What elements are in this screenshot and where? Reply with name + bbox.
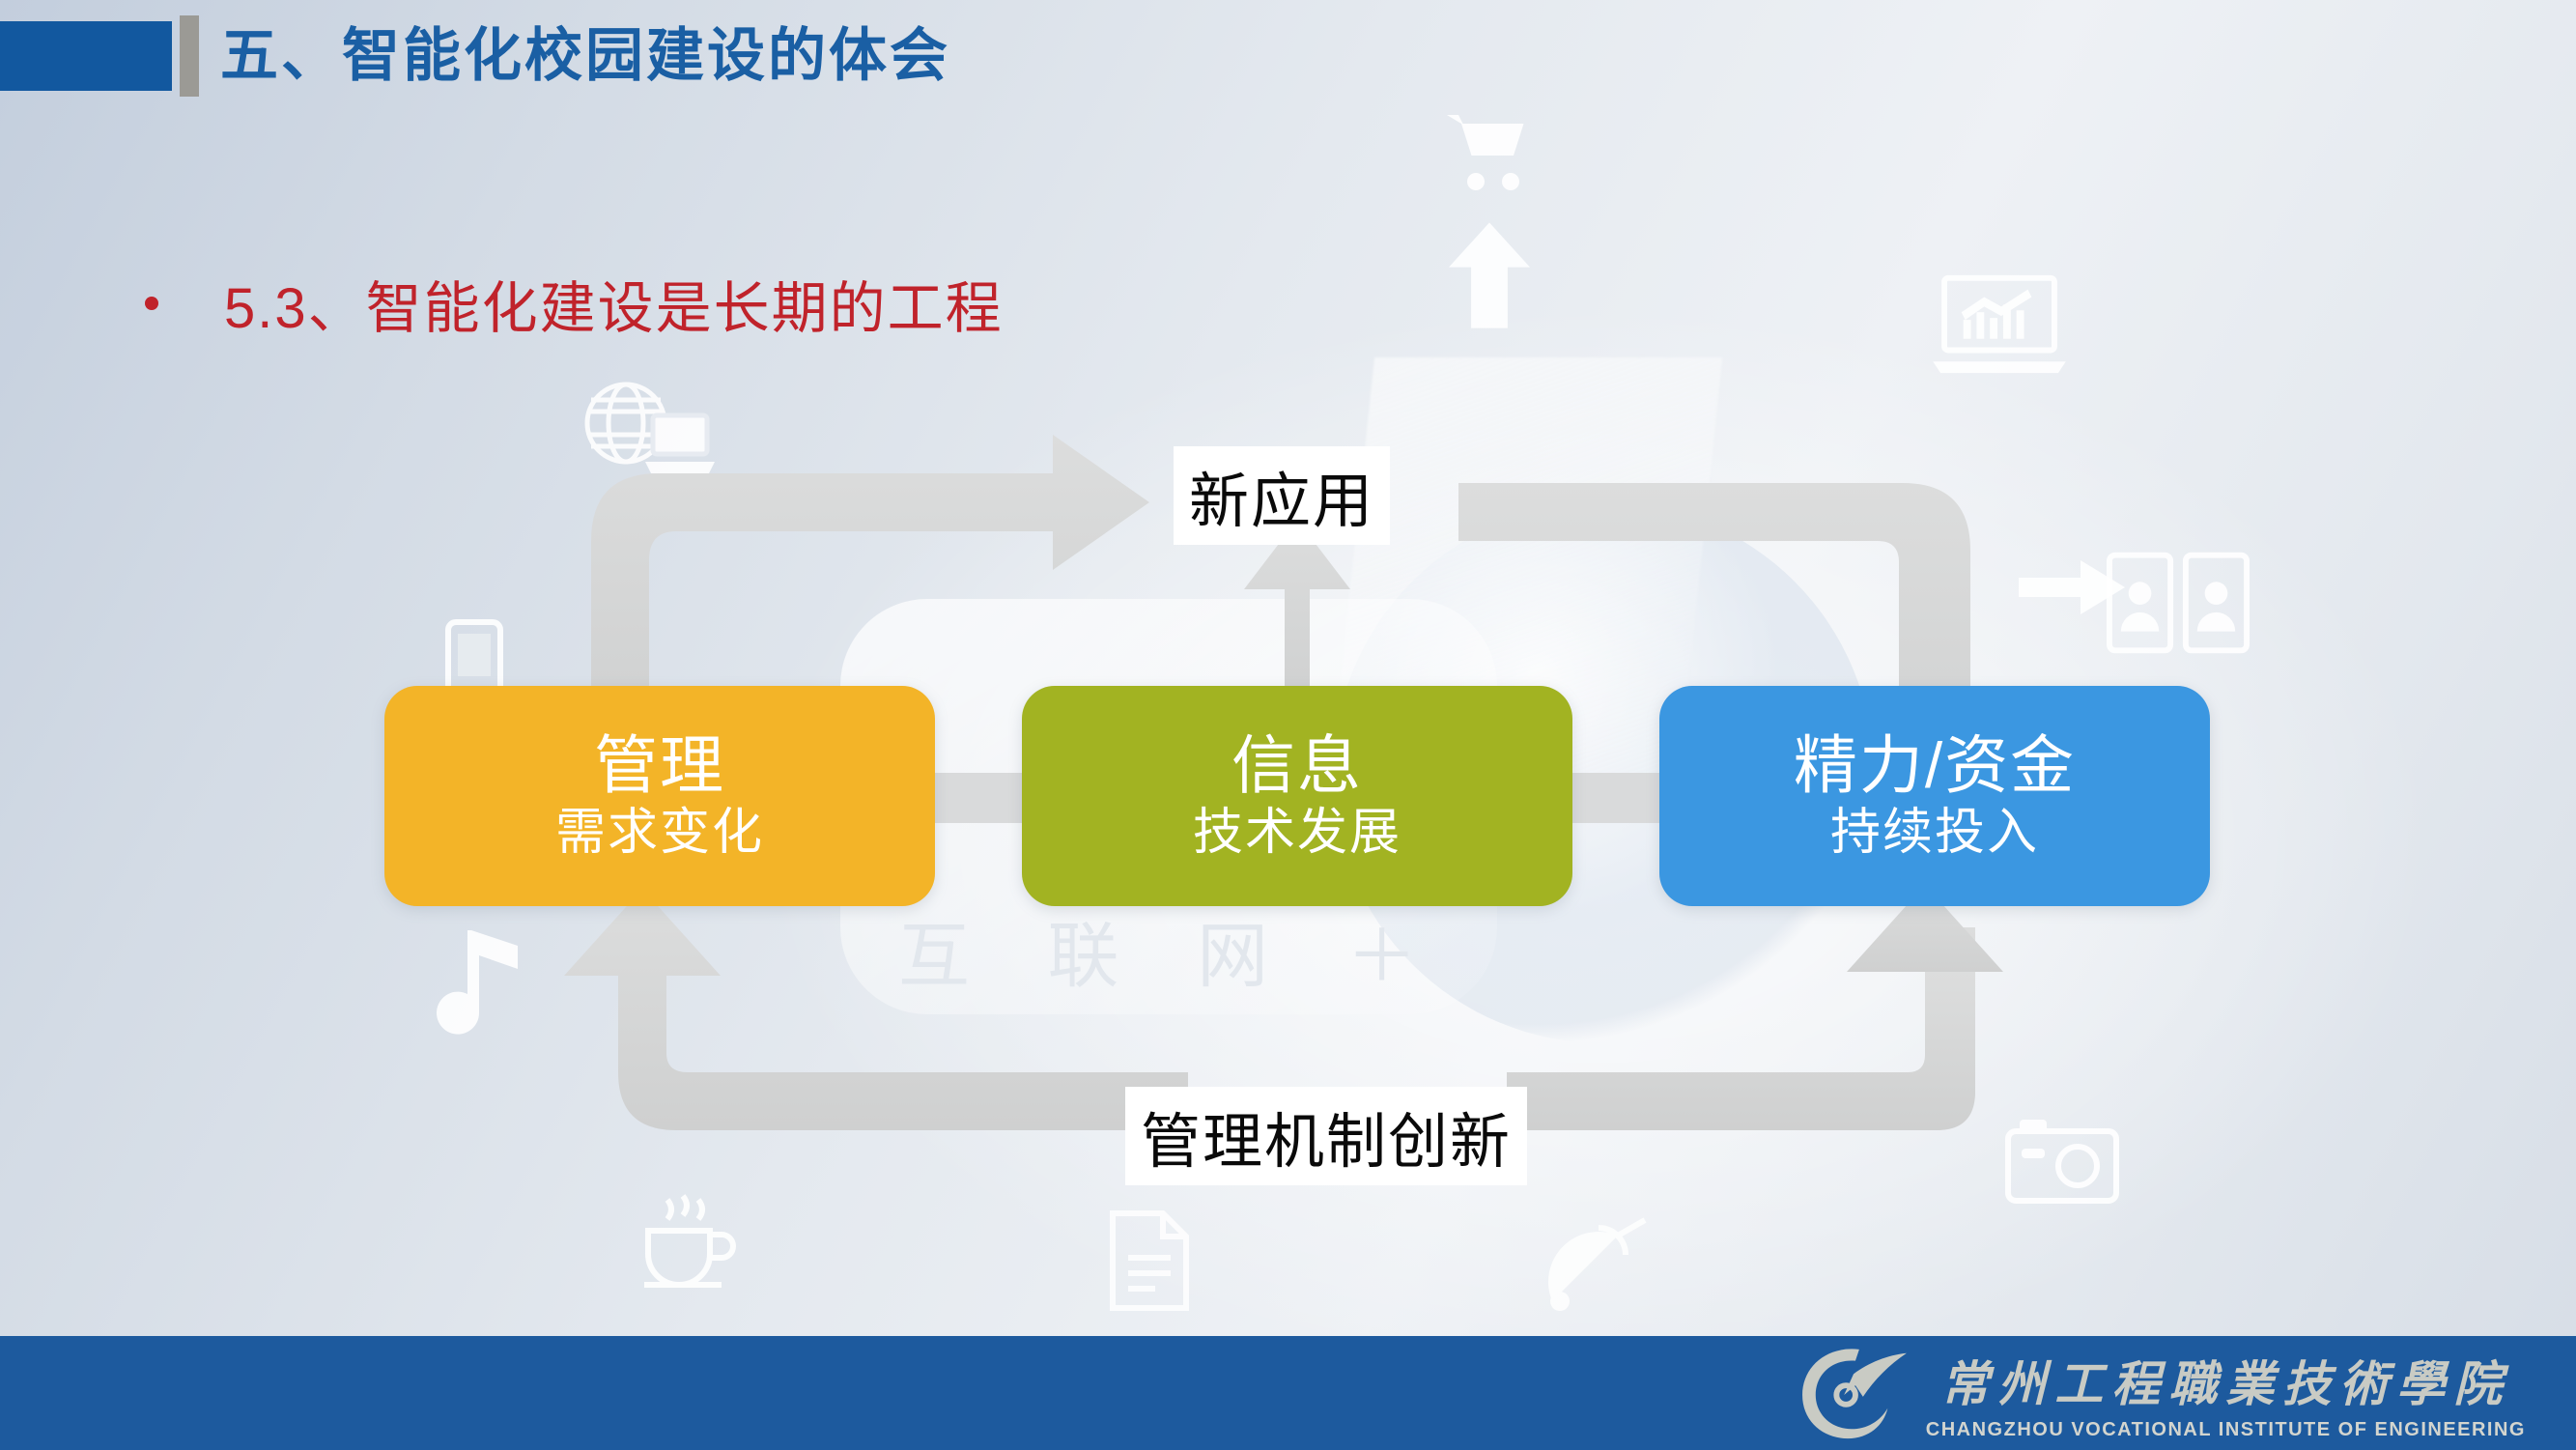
box-information[interactable]: 信息 技术发展 <box>1022 686 1572 906</box>
swoosh-c-logo-icon <box>1797 1344 1911 1442</box>
box-information-subtitle: 技术发展 <box>1193 805 1401 861</box>
slide-canvas: 五、智能化校园建设的体会 5.3、智能化建设是长期的工程 互 联 网 ＋ <box>0 0 2576 1450</box>
box-management-subtitle: 需求变化 <box>555 805 764 861</box>
arrow-fund-to-mechanism <box>1507 885 2003 1130</box>
institution-name-cn: 常州工程職業技術學院 <box>1940 1346 2510 1415</box>
box-funding-subtitle: 持续投入 <box>1830 805 2039 861</box>
institution-logo-texts: 常州工程職業技術學院 CHANGZHOU VOCATIONAL INSTITUT… <box>1926 1346 2526 1441</box>
arrow-mechanism-to-manage <box>564 889 1188 1135</box>
flow-label-management-mechanism: 管理机制创新 <box>1125 1087 1527 1185</box>
institution-name-en: CHANGZHOU VOCATIONAL INSTITUTE OF ENGINE… <box>1926 1419 2526 1441</box>
footer-bar: 常州工程職業技術學院 CHANGZHOU VOCATIONAL INSTITUT… <box>0 1336 2576 1450</box>
box-management[interactable]: 管理 需求变化 <box>384 686 935 906</box>
box-funding[interactable]: 精力/资金 持续投入 <box>1659 686 2210 906</box>
flow-label-new-application: 新应用 <box>1174 446 1390 545</box>
box-management-title: 管理 <box>594 731 725 800</box>
institution-logo: 常州工程職業技術學院 CHANGZHOU VOCATIONAL INSTITUT… <box>1797 1344 2526 1442</box>
box-information-title: 信息 <box>1231 731 1363 800</box>
box-funding-title: 精力/资金 <box>1794 731 2076 800</box>
arrow-info-to-new-app <box>1244 520 1350 705</box>
